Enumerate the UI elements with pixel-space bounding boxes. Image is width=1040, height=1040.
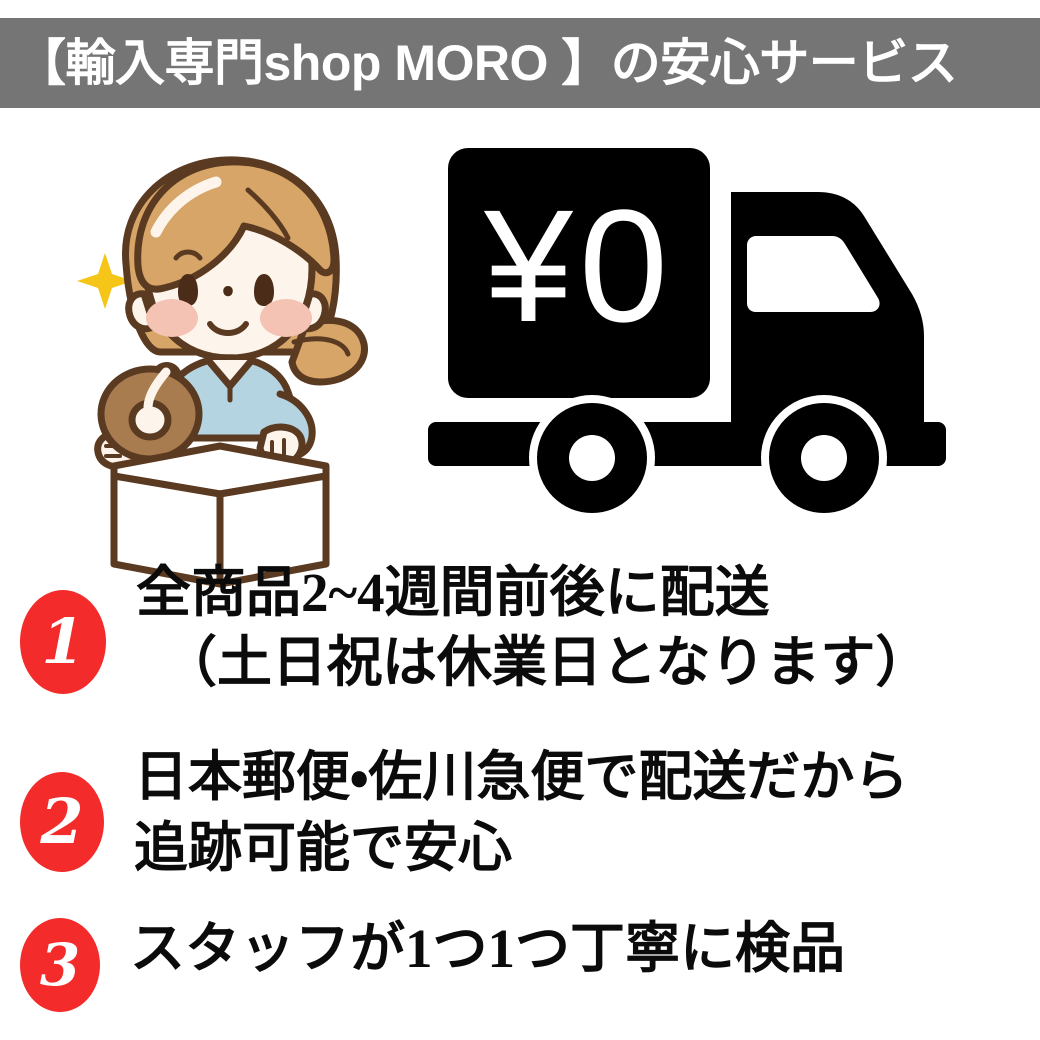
feature-list: 1 全商品2~4週間前後に配送 （土日祝は休業日となります） 2 日本郵便・佐川… xyxy=(0,540,1040,1040)
feature-number-3: 3 xyxy=(40,936,80,994)
staff-packing-box-illustration xyxy=(48,146,398,506)
hero-illustration-area: ¥0 xyxy=(0,118,1040,538)
feature-number-2: 2 xyxy=(40,791,83,853)
feature-item-2: 2 日本郵便・佐川急便で配送だから 追跡可能で安心 xyxy=(0,742,1040,885)
truck-rear-wheel xyxy=(529,395,655,521)
feature-text-3: スタッフが1つ1つ丁寧に検品 xyxy=(100,912,1040,982)
feature-3-line-1: スタッフが1つ1つ丁寧に検品 xyxy=(130,916,1040,982)
feature-number-badge-3: 3 xyxy=(20,918,100,1012)
truck-front-wheel xyxy=(761,395,887,521)
feature-number-1: 1 xyxy=(41,611,84,673)
feature-2-line-1: 日本郵便・佐川急便で配送だから xyxy=(134,742,1040,813)
truck-cargo-label: ¥0 xyxy=(483,176,674,355)
free-shipping-truck-icon: ¥0 xyxy=(418,136,1008,526)
feature-1-line-1: 全商品2~4週間前後に配送 xyxy=(136,558,1040,628)
feature-text-1: 全商品2~4週間前後に配送 （土日祝は休業日となります） xyxy=(106,558,1040,699)
feature-number-badge-2: 2 xyxy=(20,772,104,872)
feature-2-line-2: 追跡可能で安心 xyxy=(134,813,1040,884)
feature-1-line-2: （土日祝は休業日となります） xyxy=(136,628,1040,698)
feature-item-3: 3 スタッフが1つ1つ丁寧に検品 xyxy=(0,912,1040,1012)
page-root: 【輸入専門shop MORO 】の安心サービス xyxy=(0,0,1040,1040)
feature-text-2: 日本郵便・佐川急便で配送だから 追跡可能で安心 xyxy=(104,742,1040,885)
page-title: 【輸入専門shop MORO 】の安心サービス xyxy=(0,38,957,88)
header-banner: 【輸入専門shop MORO 】の安心サービス xyxy=(0,18,1040,108)
feature-item-1: 1 全商品2~4週間前後に配送 （土日祝は休業日となります） xyxy=(0,558,1040,699)
feature-number-badge-1: 1 xyxy=(20,590,106,694)
